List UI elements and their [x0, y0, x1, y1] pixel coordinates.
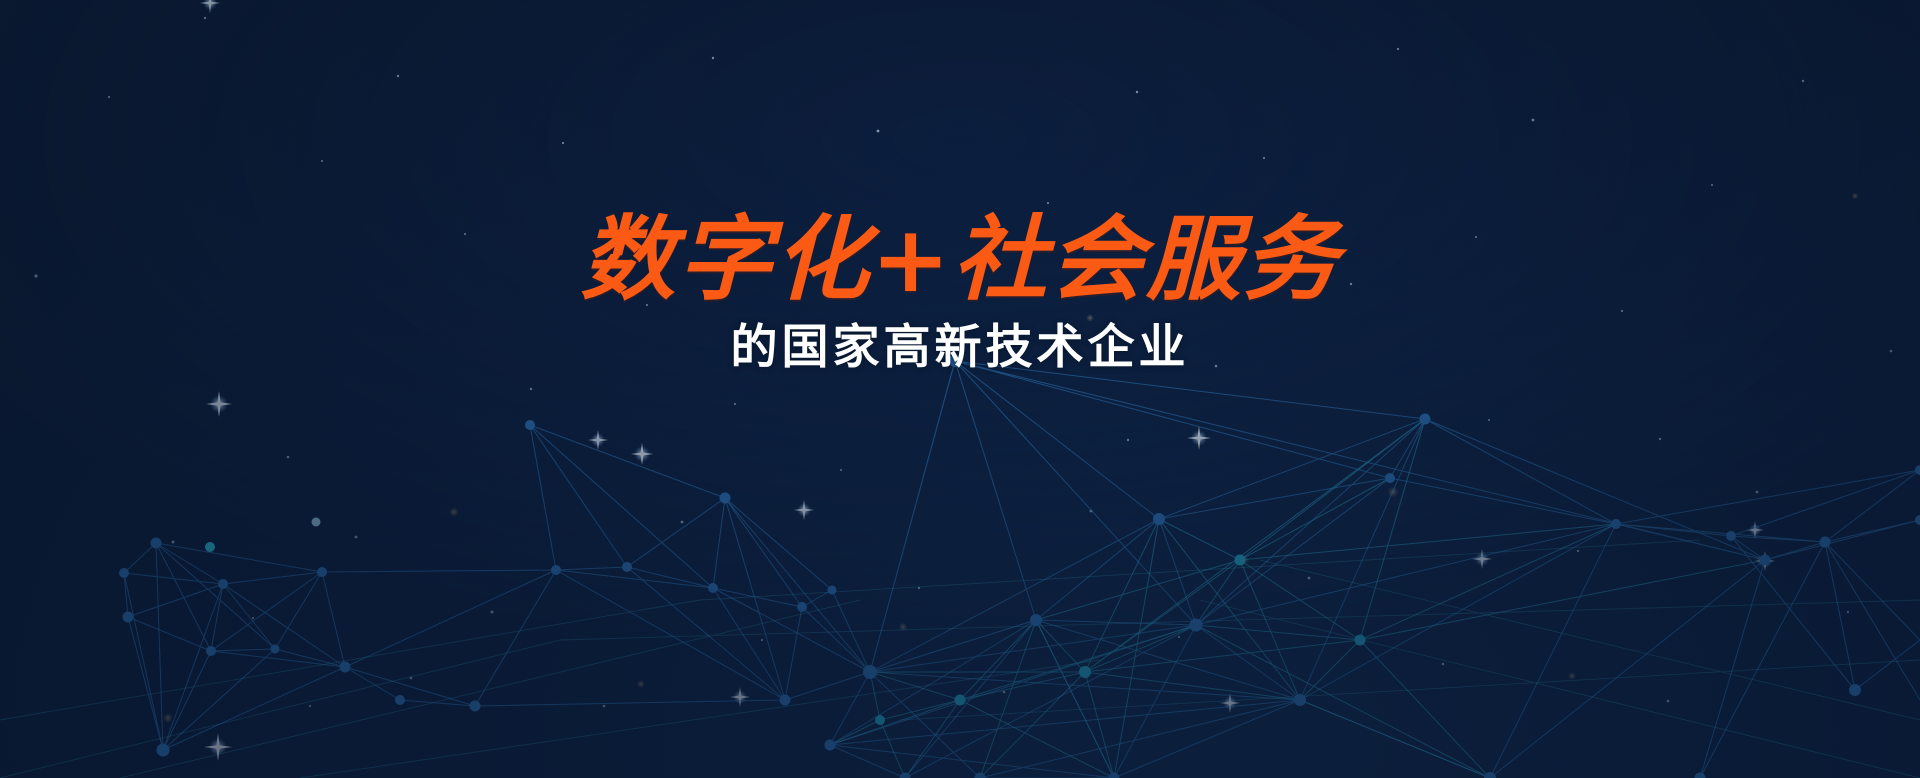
network-mesh-decoration	[0, 0, 1920, 778]
hero-banner: 数字化+社会服务 的国家高新技术企业	[0, 0, 1920, 778]
banner-text-block: 数字化+社会服务 的国家高新技术企业	[0, 214, 1920, 371]
page-subtitle: 的国家高新技术企业	[0, 324, 1920, 371]
page-title: 数字化+社会服务	[0, 214, 1920, 306]
